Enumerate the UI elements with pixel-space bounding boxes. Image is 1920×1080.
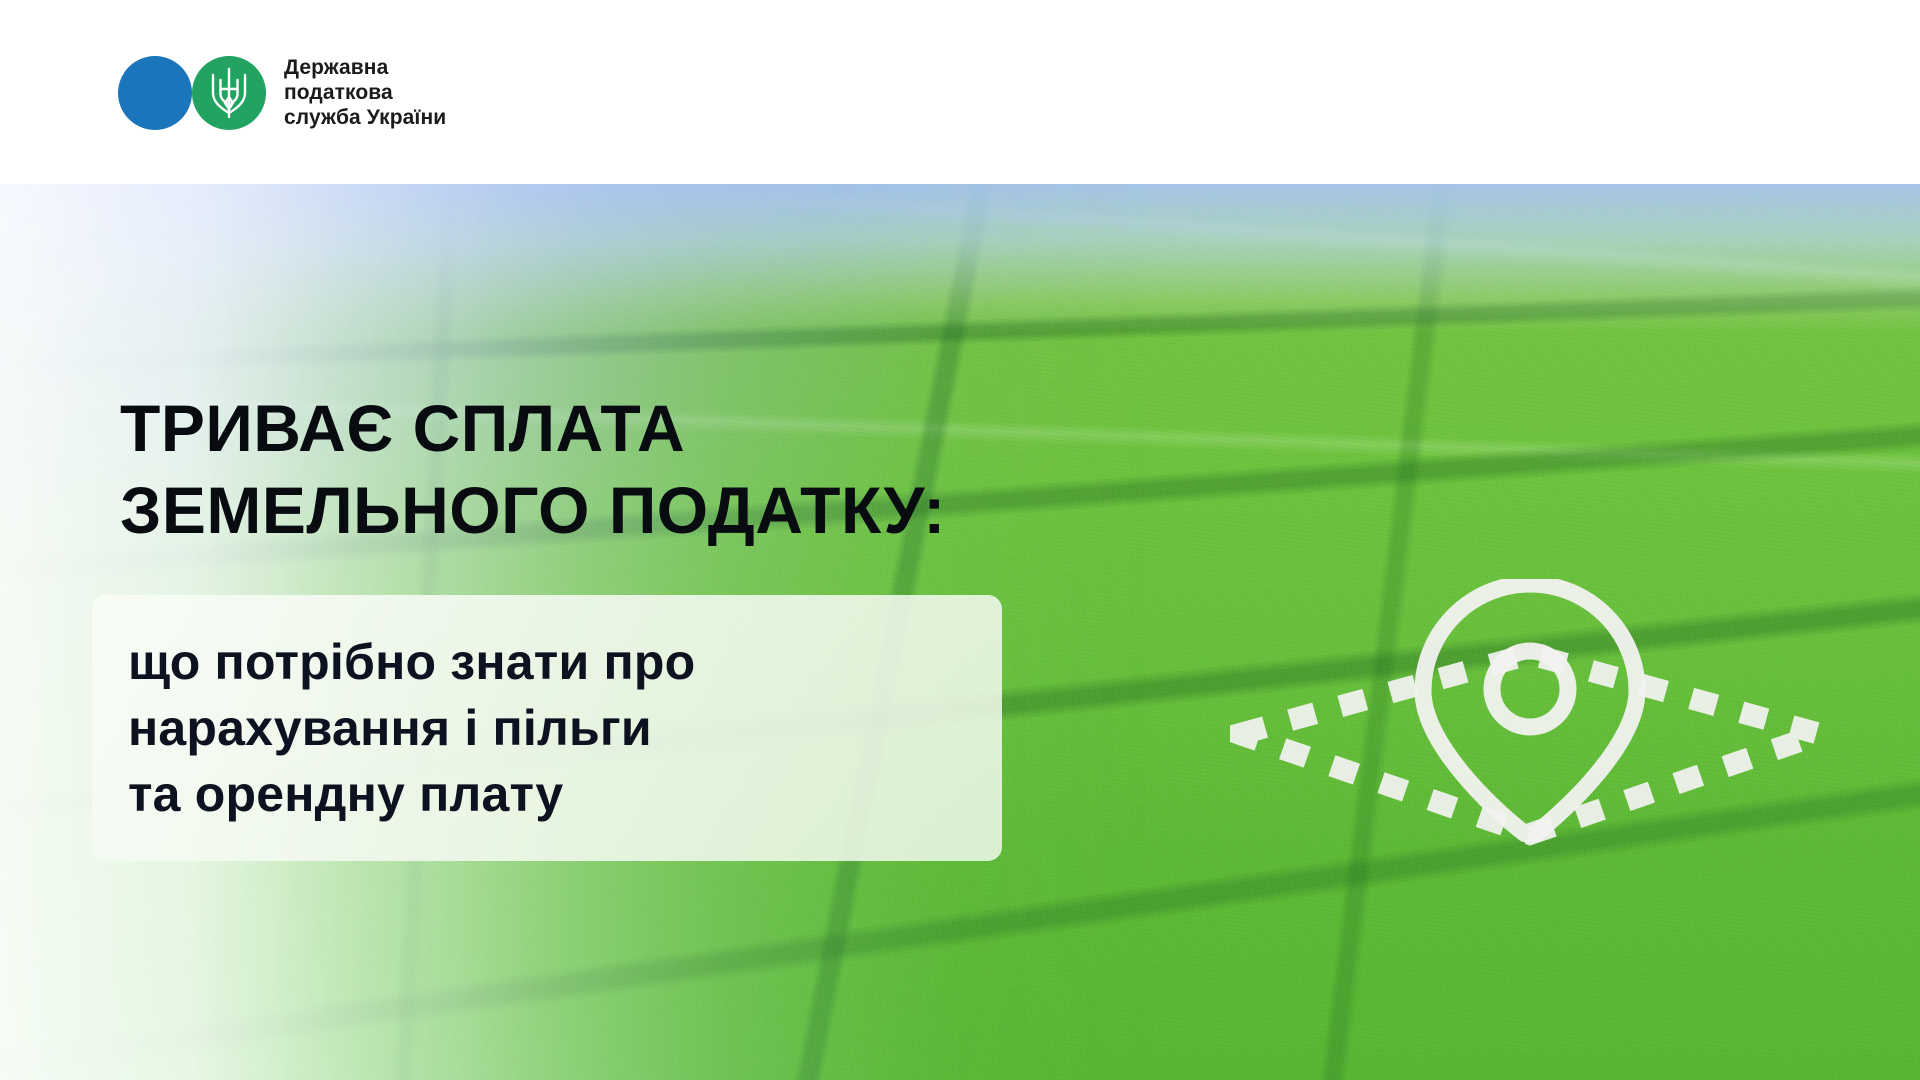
logo-text-line1: Державна xyxy=(284,55,446,80)
logo-marks xyxy=(118,56,266,130)
banner-content: ТРИВАЄ СПЛАТА ЗЕМЕЛЬНОГО ПОДАТКУ: що пот… xyxy=(0,184,1920,1080)
circle-blue-icon xyxy=(118,56,192,130)
page-title: ТРИВАЄ СПЛАТА ЗЕМЕЛЬНОГО ПОДАТКУ: xyxy=(120,387,946,551)
logo-text-line2: податкова xyxy=(284,80,446,105)
ukraine-trident-icon xyxy=(209,67,249,119)
logo[interactable]: Державна податкова служба України xyxy=(118,55,446,130)
header-bar: Державна податкова служба України xyxy=(0,0,1920,184)
subtitle-panel: що потрібно знати про нарахування і піль… xyxy=(92,595,1002,861)
banner-canvas: ТРИВАЄ СПЛАТА ЗЕМЕЛЬНОГО ПОДАТКУ: що пот… xyxy=(0,0,1920,1080)
page-subtitle: що потрібно знати про нарахування і піль… xyxy=(128,629,968,827)
circle-green-icon xyxy=(192,56,266,130)
logo-text-line3: служба України xyxy=(284,105,446,130)
logo-text: Державна податкова служба України xyxy=(284,55,446,130)
